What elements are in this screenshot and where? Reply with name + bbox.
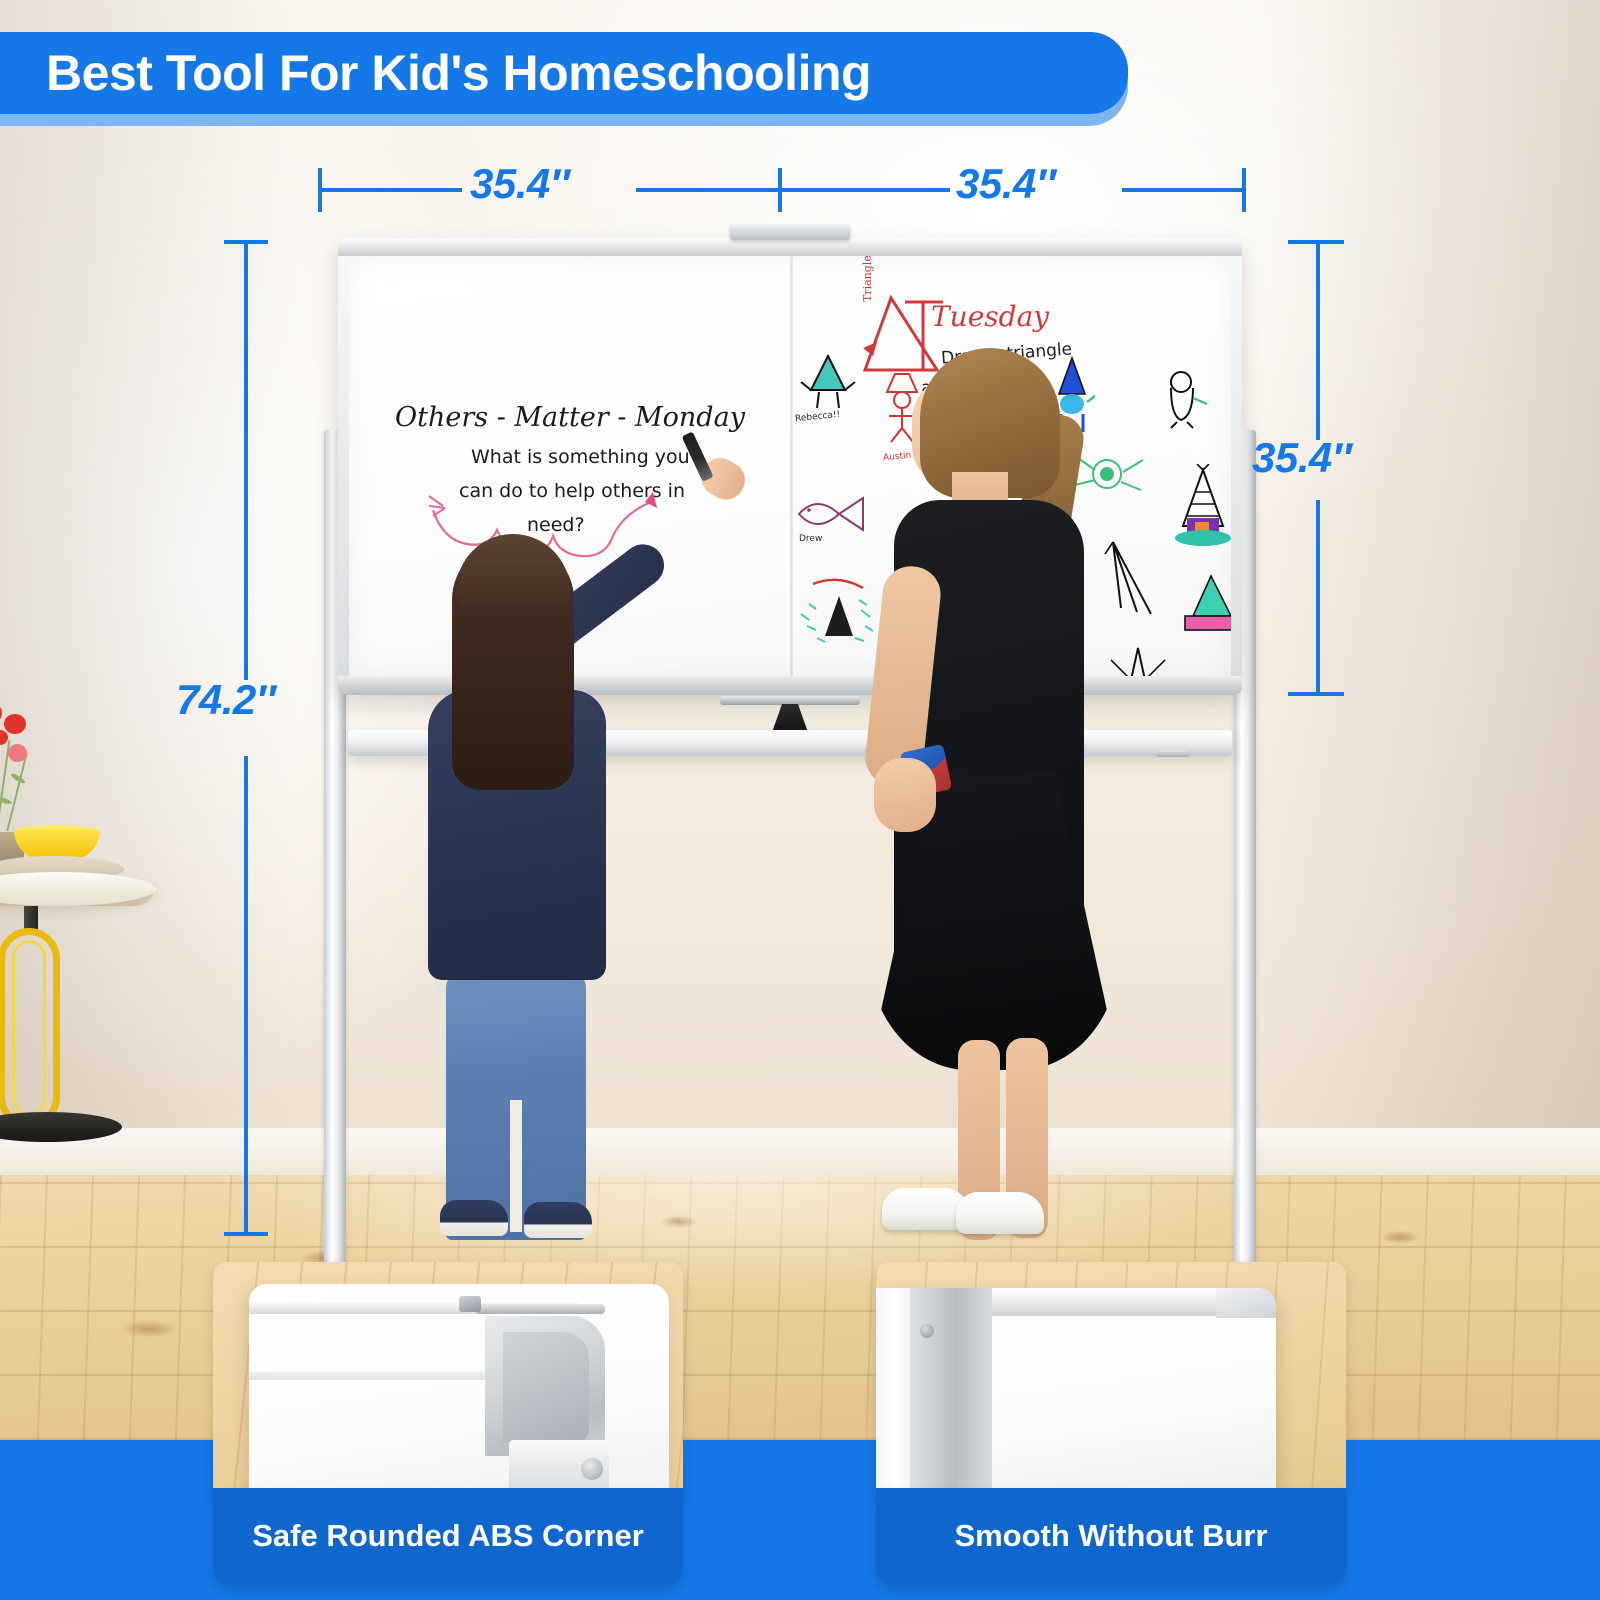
floor-knot: [1380, 1230, 1420, 1244]
board-frame-top: [338, 238, 1242, 256]
board-pivot-bar: [720, 696, 860, 705]
flower-bouquet: [0, 690, 62, 840]
dim-right-line-lower: [1316, 500, 1320, 696]
dim-top-right-line-b: [1122, 188, 1242, 192]
left-panel-heading: Others - Matter - Monday: [395, 402, 745, 433]
adult-hand: [874, 758, 936, 832]
doodle-pink-green-hat: [1175, 572, 1231, 638]
dim-left-line-lower: [244, 756, 248, 1236]
right-panel-heading: Tuesday: [931, 300, 1049, 333]
doodle-penguin: [1159, 368, 1211, 430]
inset-photo-edge: [876, 1262, 1346, 1494]
tray-knob[interactable]: [1156, 750, 1190, 757]
dim-top-right-tick-end: [1242, 168, 1246, 212]
dim-top-right-line-a: [782, 188, 950, 192]
left-panel-line1: What is something you: [471, 446, 690, 468]
floor-knot: [120, 1320, 178, 1338]
adult-shoe: [956, 1192, 1044, 1234]
table-loop-inner: [12, 940, 46, 1116]
right-panel-heading-small: Triangle: [861, 256, 874, 302]
inset-card-edge: Smooth Without Burr: [876, 1262, 1346, 1600]
dim-top-right-label: 35.4″: [956, 160, 1055, 208]
dim-left-line-upper: [244, 240, 248, 680]
doodle-purple-teepee: [1161, 464, 1231, 548]
doodle-blue-slide: [1227, 640, 1231, 676]
dim-top-left-line-a: [322, 188, 462, 192]
child-shoe: [440, 1200, 508, 1236]
doodle-teal-party-hat: [797, 352, 859, 414]
header-title: Best Tool For Kid's Homeschooling: [0, 44, 871, 102]
header-banner: Best Tool For Kid's Homeschooling: [0, 32, 1128, 114]
adult-figure: [860, 340, 1160, 1240]
dim-top-left-line-b: [636, 188, 778, 192]
dim-right-line-upper: [1316, 240, 1320, 440]
inset-photo-corner: [213, 1262, 683, 1494]
inset-caption-edge-text: Smooth Without Burr: [954, 1518, 1267, 1554]
dim-right-label: 35.4″: [1252, 434, 1351, 482]
dim-left-tick-bottom: [224, 1232, 268, 1236]
dim-left-label: 74.2″: [176, 676, 275, 724]
child-figure: [420, 540, 660, 1240]
dim-right-tick-bottom: [1288, 692, 1344, 696]
board-top-clip: [730, 224, 850, 240]
inset-caption-corner-text: Safe Rounded ABS Corner: [252, 1518, 644, 1554]
infographic-canvas: Others - Matter - Monday What is somethi…: [0, 0, 1600, 1600]
doodle-label: Drew: [799, 534, 822, 544]
child-shoe: [524, 1202, 592, 1238]
child-leg-gap: [510, 1100, 522, 1232]
child-hair-crown: [456, 534, 570, 626]
inset-caption-edge: Smooth Without Burr: [876, 1488, 1346, 1584]
dim-top-left-label: 35.4″: [470, 160, 569, 208]
inset-caption-corner: Safe Rounded ABS Corner: [213, 1488, 683, 1584]
wall-shadow-right: [1260, 0, 1600, 1175]
inset-card-corner: Safe Rounded ABS Corner: [213, 1262, 683, 1600]
doodle-fish: [793, 492, 869, 536]
